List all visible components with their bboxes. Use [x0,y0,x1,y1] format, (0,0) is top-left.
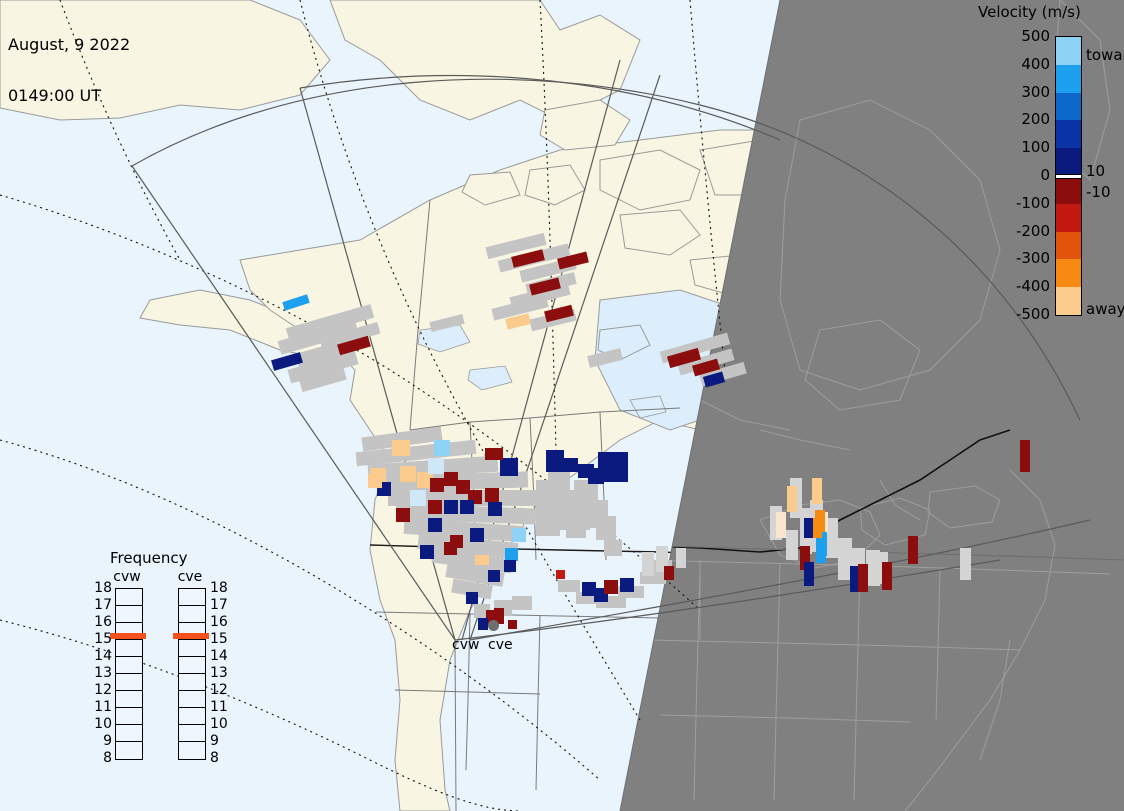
frequency-tick-right-11: 11 [210,699,234,715]
ground-scatter-cell-night-9 [786,530,798,560]
colorbar-away-label: away [1086,300,1124,318]
frequency-tick-right-16: 16 [210,614,234,630]
colorbar-tick-200: 200 [1006,110,1050,128]
frequency-segment-cve-1 [179,606,205,623]
ground-scatter-cell-35 [566,518,586,538]
colorbar-tick--500: -500 [1006,305,1050,323]
frequency-segment-cve-8 [179,725,205,742]
velocity-cell-night-12 [858,564,868,592]
frequency-segment-cve-0 [179,589,205,606]
zero-velocity-band [1056,174,1081,179]
frequency-segment-cvw-4 [116,657,142,674]
frequency-tick-left-9: 9 [88,733,112,749]
velocity-cell-38 [505,548,518,561]
ground-scatter-cell-36 [604,540,622,556]
ground-scatter-cell-night-5 [838,538,852,580]
timestamp: August, 9 2022 0149:00 UT [8,2,130,138]
frequency-tick-right-10: 10 [210,716,234,732]
frequency-segment-cve-5 [179,674,205,691]
colorbar-title: Velocity (m/s) [978,3,1081,21]
frequency-segment-cvw-8 [116,725,142,742]
colorbar-tick--300: -300 [1006,249,1050,267]
frequency-segment-cve-6 [179,691,205,708]
velocity-cell-night-15 [1020,440,1030,472]
frequency-bar-cvw [115,588,143,760]
colorbar-tick-0: 0 [1006,166,1050,184]
velocity-cell-35 [500,458,518,476]
frequency-bar-cve [178,588,206,760]
colorbar-tick-400: 400 [1006,55,1050,73]
frequency-tick-right-8: 8 [210,750,234,766]
colorbar-toward-label: toward [1086,46,1124,64]
velocity-cell-28 [428,518,442,532]
frequency-tick-left-16: 16 [88,614,112,630]
frequency-segment-cvw-7 [116,708,142,725]
velocity-cell-night-10 [804,562,814,586]
velocity-cell-42 [562,458,578,472]
frequency-segment-cve-3 [179,640,205,657]
frequency-tick-right-14: 14 [210,648,234,664]
ground-scatter-cell-34 [596,516,616,540]
colorbar-tick--100: -100 [1006,194,1050,212]
colorbar-tick--400: -400 [1006,277,1050,295]
colorbar-band-2 [1056,93,1081,121]
velocity-cell-night-7 [813,518,822,538]
velocity-cell-31 [444,542,457,555]
velocity-cell-night-14 [908,536,918,564]
station-marker-dot [488,620,499,631]
velocity-cell-22 [456,480,470,494]
velocity-cell-19 [410,490,426,506]
velocity-cell-47 [582,582,596,596]
station-label-cve: cve [488,637,513,653]
colorbar-band-9 [1056,287,1081,315]
colorbar-band-3 [1056,120,1081,148]
frequency-marker-cve [173,633,209,639]
colorbar-band-6 [1056,204,1081,232]
station-label-cvw: cvw [452,637,479,653]
colorbar-band-4 [1056,148,1081,176]
velocity-cell-night-2 [776,512,786,538]
frequency-tick-left-18: 18 [88,580,112,596]
velocity-cell-night-0 [787,486,797,512]
frequency-tick-left-13: 13 [88,665,112,681]
velocity-cell-46 [556,570,565,579]
velocity-cell-51 [466,592,478,604]
frequency-segment-cve-9 [179,742,205,759]
frequency-segment-cve-7 [179,708,205,725]
frequency-tick-left-14: 14 [88,648,112,664]
frequency-tick-right-18: 18 [210,580,234,596]
frequency-tick-right-9: 9 [210,733,234,749]
timestamp-date: August, 9 2022 [8,36,130,53]
velocity-cell-night-16 [664,566,674,580]
velocity-cell-20 [430,478,444,492]
velocity-cell-56 [488,570,500,582]
velocity-cell-night-8 [804,518,813,538]
colorbar-band-7 [1056,232,1081,260]
velocity-cell-25 [396,508,410,522]
colorbar-tick-500: 500 [1006,27,1050,45]
colorbar-neg-threshold-label: -10 [1086,183,1111,201]
frequency-marker-cvw [110,633,146,639]
velocity-cell-night-13 [882,562,892,590]
frequency-tick-right-12: 12 [210,682,234,698]
colorbar-band-0 [1056,37,1081,65]
frequency-tick-left-12: 12 [88,682,112,698]
velocity-colorbar [1055,36,1082,316]
timestamp-time: 0149:00 UT [8,87,130,104]
velocity-cell-13 [400,466,416,482]
velocity-cell-50 [620,578,634,592]
velocity-cell-37 [512,528,526,542]
velocity-cell-49 [604,580,618,594]
velocity-cell-21 [444,472,458,486]
frequency-column-cve-label: cve [168,569,212,585]
frequency-legend-title: Frequency [110,549,188,567]
ground-scatter-cell-night-10 [960,548,971,580]
map-canvas [0,0,1124,811]
frequency-tick-left-8: 8 [88,750,112,766]
ground-scatter-cell-42 [558,580,580,592]
velocity-cell-26 [444,500,458,514]
frequency-tick-left-10: 10 [88,716,112,732]
frequency-tick-left-17: 17 [88,597,112,613]
ground-scatter-cell-43 [512,596,532,610]
velocity-cell-16 [368,474,382,488]
velocity-cell-night-6 [816,545,826,563]
frequency-segment-cvw-6 [116,691,142,708]
velocity-cell-27 [460,500,474,514]
velocity-cell-24 [428,500,442,514]
colorbar-pos-threshold-label: 10 [1086,162,1105,180]
ground-scatter-cell-night-13 [676,548,686,568]
colorbar-tick--200: -200 [1006,222,1050,240]
frequency-segment-cve-4 [179,657,205,674]
velocity-cell-32 [420,545,434,559]
frequency-tick-right-15: 15 [210,631,234,647]
velocity-cell-18 [428,458,444,474]
velocity-cell-55 [508,620,517,629]
frequency-tick-left-15: 15 [88,631,112,647]
velocity-cell-41 [546,450,564,472]
frequency-tick-right-17: 17 [210,597,234,613]
frequency-segment-cvw-5 [116,674,142,691]
velocity-cell-45 [588,468,604,484]
velocity-cell-17 [434,440,450,456]
velocity-cell-night-1 [812,478,822,504]
frequency-segment-cvw-1 [116,606,142,623]
velocity-cell-39 [504,560,516,572]
velocity-cell-40 [475,555,489,565]
colorbar-tick-300: 300 [1006,83,1050,101]
velocity-cell-34 [488,502,502,516]
frequency-segment-cvw-9 [116,742,142,759]
velocity-cell-33 [485,488,499,502]
velocity-cell-54 [478,618,488,630]
velocity-cell-night-11 [850,566,859,592]
frequency-segment-cvw-3 [116,640,142,657]
velocity-cell-29 [470,528,484,542]
frequency-tick-right-13: 13 [210,665,234,681]
colorbar-band-5 [1056,176,1081,204]
velocity-cell-36 [485,448,503,460]
colorbar-band-1 [1056,65,1081,93]
colorbar-band-8 [1056,259,1081,287]
velocity-cell-11 [392,440,410,456]
frequency-tick-left-11: 11 [88,699,112,715]
frequency-segment-cvw-0 [116,589,142,606]
radar-map-figure: August, 9 2022 0149:00 UT Velocity (m/s)… [0,0,1124,811]
ground-scatter-cell-night-11 [642,552,654,576]
colorbar-tick-100: 100 [1006,138,1050,156]
